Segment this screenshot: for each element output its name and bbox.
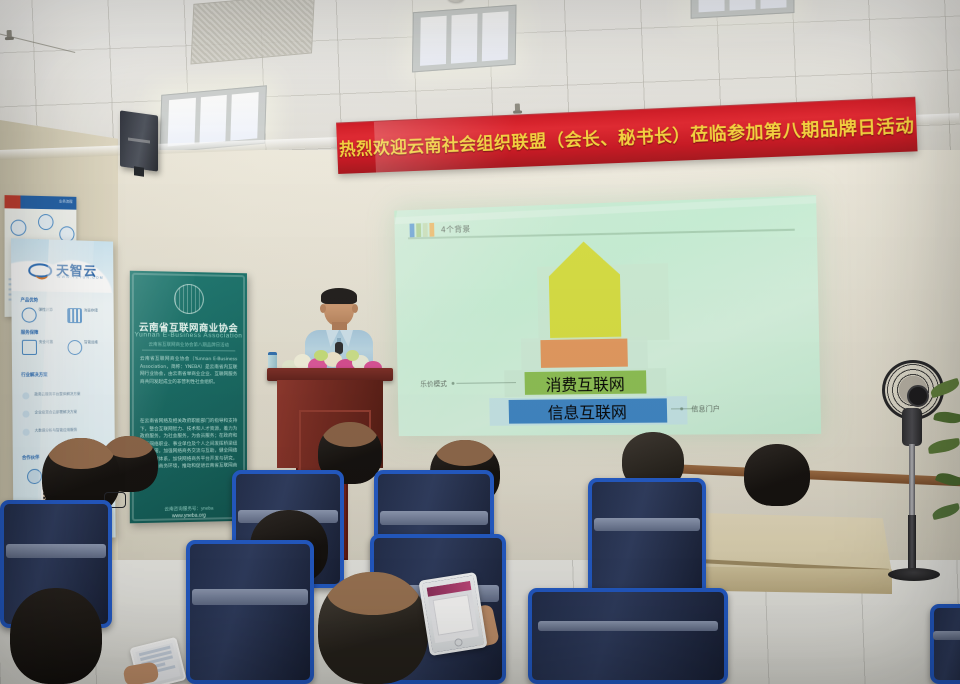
speaker-bracket (134, 166, 144, 176)
air-vent-icon (190, 0, 314, 64)
banner-glare (374, 113, 570, 172)
pyramid-tier-orange (540, 339, 627, 368)
projection-screen: 4个背景 消费互联网 信息互联网 乐价模式 信息门户 (394, 195, 821, 436)
shield-icon (22, 340, 37, 355)
presenter-ear-right (352, 304, 358, 313)
presenter-hair (321, 288, 357, 304)
pyramid-diagram: 消费互联网 信息互联网 乐价模式 信息门户 (395, 222, 821, 436)
ceiling-light-panel-2 (412, 5, 517, 73)
audience-chair (930, 604, 960, 684)
pyramid-tier-arrow (548, 240, 621, 342)
bullet-icon-3 (23, 429, 30, 436)
pyramid-tier-blue: 信息互联网 (509, 398, 668, 423)
poster-small-tag: 业务流程 (59, 199, 73, 204)
gauge-icon (22, 307, 37, 322)
fan-motor (902, 408, 922, 446)
fan-pole-lower (908, 515, 916, 575)
presenter-ear-left (320, 304, 326, 313)
conference-room-photo: 热烈欢迎云南社会组织联盟（会长、秘书长）莅临参加第八期品牌日活动 4个背景 消费… (0, 0, 960, 684)
projected-slide: 4个背景 消费互联网 信息互联网 乐价模式 信息门户 (394, 195, 821, 436)
fan-hub (907, 385, 929, 407)
audience-chair (528, 588, 728, 684)
tablet-screen (427, 581, 479, 643)
poster-partners-heading: 合作伙伴 (22, 455, 40, 462)
callout-right-dot (680, 407, 683, 410)
audience-chair (186, 540, 314, 684)
callout-left-dot (452, 382, 455, 385)
fan-pole-upper (909, 444, 915, 518)
poster-small-red-block (5, 195, 21, 209)
sprinkler-icon-1 (7, 30, 12, 39)
poster-section-heading-1: 产品优势 (20, 297, 38, 303)
sprinkler-icon-3 (515, 103, 520, 112)
tier-green-label: 消费互联网 (545, 370, 625, 395)
audience-head (318, 572, 428, 684)
bullet-icon-1 (22, 392, 29, 399)
tablet-home-button[interactable] (454, 638, 463, 647)
callout-right-label: 信息门户 (691, 404, 720, 414)
pyramid-tier-green: 消费互联网 (525, 370, 647, 394)
fan-base (888, 568, 940, 581)
potted-plant (928, 378, 960, 548)
callout-left-label: 乐价模式 (420, 379, 447, 389)
audience-head (10, 588, 102, 684)
tablet-app-body (433, 594, 474, 635)
audience-head (744, 444, 810, 506)
poster-section-heading-2: 服务保障 (21, 330, 39, 336)
tier-blue-label: 信息互联网 (547, 399, 627, 424)
wall-speaker (120, 110, 158, 171)
tablet-device[interactable] (418, 572, 487, 656)
bullet-icon-2 (22, 410, 29, 417)
audience-chair (588, 478, 706, 596)
